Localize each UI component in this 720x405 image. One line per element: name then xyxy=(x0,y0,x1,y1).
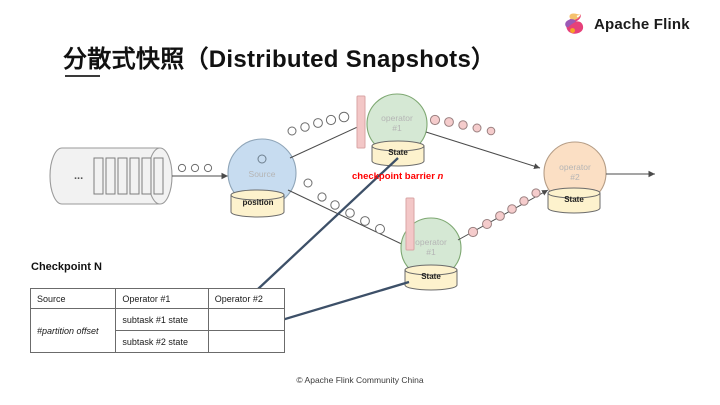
record-store-cylinder xyxy=(50,148,172,204)
node-operator1-a-label: operator xyxy=(367,113,427,123)
store-state-1a-label: State xyxy=(368,148,428,157)
cell-operator1-subtask1: subtask #1 state xyxy=(116,309,208,331)
store-state-1b-label: State xyxy=(401,272,461,281)
records-store-to-source xyxy=(178,164,211,171)
cell-source-value: #partition offset xyxy=(31,309,116,353)
checkpoint-barrier-n: n xyxy=(438,171,444,182)
column-header-operator2: Operator #2 xyxy=(208,289,284,309)
column-header-source: Source xyxy=(31,289,116,309)
store-position-label: position xyxy=(228,198,288,207)
record-store-ellipsis: ... xyxy=(74,170,83,182)
records-source-to-operator1a xyxy=(288,112,349,135)
records-operator1a-to-operator2 xyxy=(430,115,494,134)
slide-canvas: Apache Flink 分散式快照（Distributed Snapshots… xyxy=(0,0,720,405)
records-operator1b-to-operator2 xyxy=(468,189,540,237)
cell-operator2-subtask1 xyxy=(208,309,284,331)
checkpoint-barrier-label: checkpoint barrier n xyxy=(352,171,443,182)
node-operator2-label: operator xyxy=(545,162,605,172)
edge-source-to-operator1b xyxy=(288,190,410,248)
cell-operator2-subtask2 xyxy=(208,331,284,353)
table-header-row: Source Operator #1 Operator #2 xyxy=(31,289,285,309)
store-state-2-label: State xyxy=(544,195,604,204)
node-source-label: Source xyxy=(232,169,292,179)
records-source-to-operator1b xyxy=(304,179,385,234)
checkpoint-table: Source Operator #1 Operator #2 #partitio… xyxy=(30,288,285,353)
checkpoint-barrier-text: checkpoint barrier xyxy=(352,171,438,182)
node-operator1-b-sublabel: #1 xyxy=(401,247,461,257)
node-operator2-sublabel: #2 xyxy=(545,172,605,182)
footer-copyright: © Apache Flink Community China xyxy=(0,375,720,385)
checkpoint-barrier-bar-upper xyxy=(357,96,365,148)
column-header-operator1: Operator #1 xyxy=(116,289,208,309)
table-row: #partition offset subtask #1 state xyxy=(31,309,285,331)
edge-operator1a-to-operator2 xyxy=(426,132,540,168)
cell-operator1-subtask2: subtask #2 state xyxy=(116,331,208,353)
checkpoint-title: Checkpoint N xyxy=(31,261,102,273)
node-operator1-a-sublabel: #1 xyxy=(367,123,427,133)
node-operator1-b-label: operator xyxy=(401,237,461,247)
